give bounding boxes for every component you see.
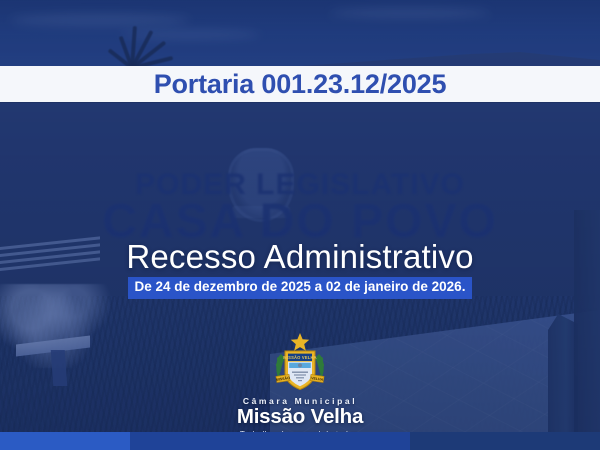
coat-of-arms-icon: MISSÃO VELHA MISSÃO VE bbox=[272, 332, 328, 394]
date-range-highlight: De 24 de dezembro de 2025 a 02 de janeir… bbox=[128, 277, 473, 299]
subline-container: De 24 de dezembro de 2025 a 02 de janeir… bbox=[0, 277, 600, 299]
bottom-bar-segment-1 bbox=[0, 432, 130, 450]
bottom-color-bar bbox=[0, 432, 600, 450]
bottom-bar-segment-3 bbox=[410, 432, 600, 450]
announcement-poster: PODER LEGISLATIVO CASA DO POVO Portaria … bbox=[0, 0, 600, 450]
headline: Recesso Administrativo bbox=[0, 238, 600, 276]
institution-logo: MISSÃO VELHA MISSÃO VE bbox=[0, 332, 600, 440]
title-banner: Portaria 001.23.12/2025 bbox=[0, 66, 600, 102]
bottom-bar-segment-2 bbox=[130, 432, 410, 450]
portaria-title: Portaria 001.23.12/2025 bbox=[154, 71, 447, 98]
svg-text:MISSÃO VELHA: MISSÃO VELHA bbox=[283, 355, 317, 360]
logo-name: Missão Velha bbox=[0, 406, 600, 429]
